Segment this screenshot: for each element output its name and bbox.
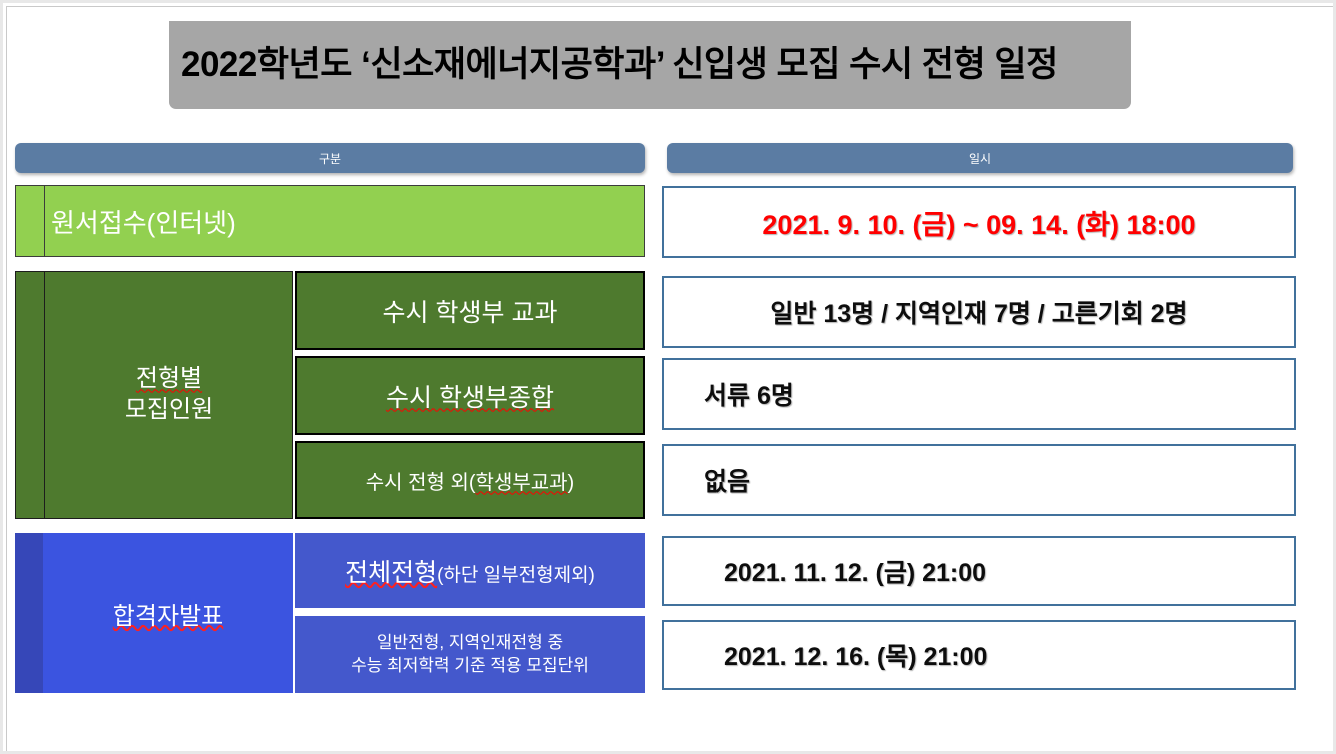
column-header-category: 구분 — [15, 143, 645, 173]
subrow-susi-other-suffix: ) — [568, 472, 575, 494]
column-header-category-label: 구분 — [319, 150, 341, 167]
subrow-susi-jonghap-label: 수시 학생부종합 — [386, 378, 554, 414]
row-results-accent-strip — [15, 533, 43, 693]
row-quota-label: 전형별 모집인원 — [45, 271, 293, 519]
subrow-susi-other-prefix: 수시 전형 외( — [366, 472, 476, 494]
column-header-date-label: 일시 — [969, 150, 991, 167]
subrow-all-types: 전체전형(하단 일부전형제외) — [295, 533, 645, 608]
value-quota-jonghap: 서류 6명 — [662, 358, 1296, 430]
value-results-all: 2021. 11. 12. (금) 21:00 — [662, 536, 1296, 606]
subrow-all-types-sub: (하단 일부전형제외) — [437, 565, 595, 586]
value-application-period: 2021. 9. 10. (금) ~ 09. 14. (화) 18:00 — [662, 186, 1296, 258]
subrow-minimum-standard-line2: 수능 최저학력 기준 적용 모집단위 — [351, 655, 589, 677]
subrow-susi-jonghap: 수시 학생부종합 — [295, 356, 645, 435]
value-results-minimum: 2021. 12. 16. (목) 21:00 — [662, 620, 1296, 690]
subrow-minimum-standard-line1: 일반전형, 지역인재전형 중 — [351, 632, 589, 654]
value-quota-other: 없음 — [662, 444, 1296, 516]
column-header-date: 일시 — [667, 143, 1293, 173]
page-title: 2022학년도 ‘신소재에너지공학과’ 신입생 모집 수시 전형 일정 — [181, 36, 1121, 87]
subrow-susi-gyogwa: 수시 학생부 교과 — [295, 271, 645, 350]
subrow-susi-other-mark: 학생부교과 — [476, 472, 568, 494]
row-application-divider — [44, 185, 45, 257]
value-quota-gyogwa: 일반 13명 / 지역인재 7명 / 고른기회 2명 — [662, 276, 1296, 348]
row-quota-label-line1: 전형별 — [136, 365, 202, 392]
row-quota-label-line2: 모집인원 — [125, 396, 213, 423]
row-results-label: 합격자발표 — [43, 533, 293, 693]
subrow-susi-gyogwa-label: 수시 학생부 교과 — [383, 293, 558, 329]
subrow-susi-other-label: 수시 전형 외(학생부교과) — [366, 466, 574, 495]
subrow-all-types-main: 전체전형 — [345, 559, 437, 587]
slide-canvas: 2022학년도 ‘신소재에너지공학과’ 신입생 모집 수시 전형 일정 구분 일… — [0, 0, 1336, 754]
row-results-label-text: 합격자발표 — [113, 596, 223, 631]
row-application-label: 원서접수(인터넷) — [51, 185, 641, 257]
subrow-susi-other: 수시 전형 외(학생부교과) — [295, 441, 645, 519]
subrow-minimum-standard: 일반전형, 지역인재전형 중 수능 최저학력 기준 적용 모집단위 — [295, 616, 645, 693]
subrow-all-types-label: 전체전형(하단 일부전형제외) — [345, 553, 595, 589]
